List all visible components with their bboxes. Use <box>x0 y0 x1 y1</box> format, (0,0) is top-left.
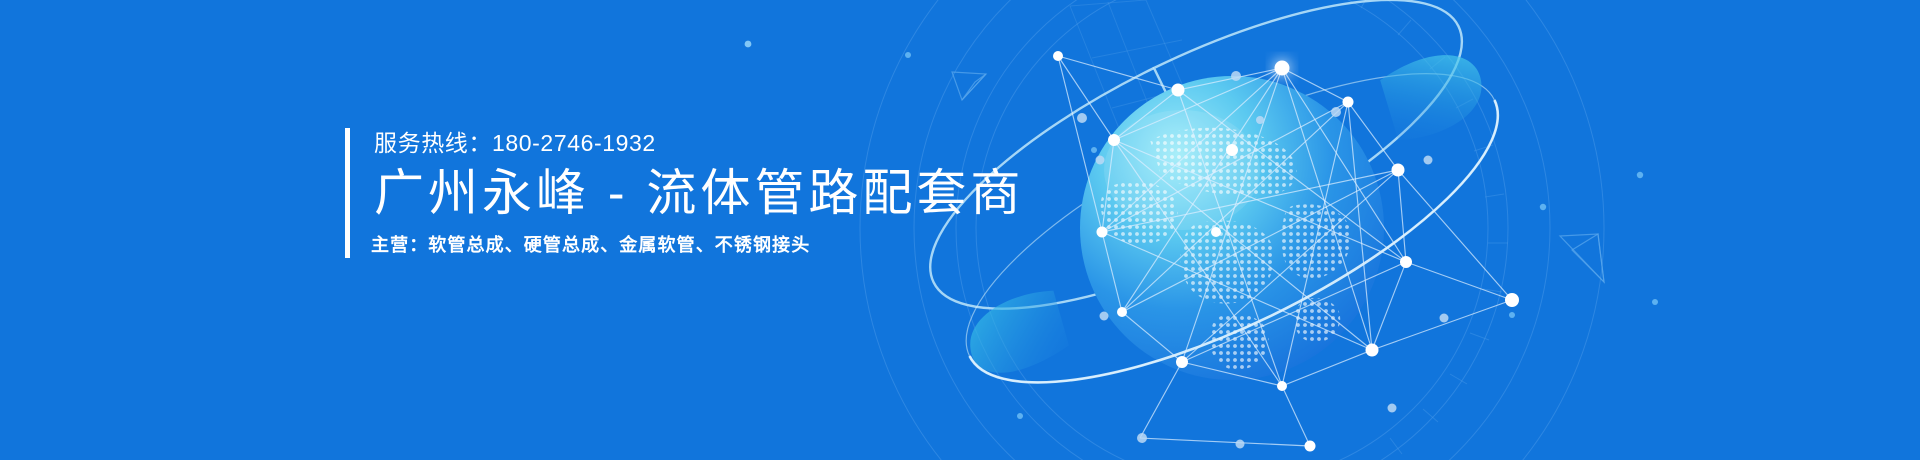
banner-text-block: 服务热线：180-2746-1932 广州永峰 - 流体管路配套商 主营：软管总… <box>345 128 1024 258</box>
business-scope-subtitle: 主营：软管总成、硬管总成、金属软管、不锈钢接头 <box>371 232 1024 258</box>
service-hotline: 服务热线：180-2746-1932 <box>374 128 1024 158</box>
page-title: 广州永峰 - 流体管路配套商 <box>374 162 1024 224</box>
perspective-grid <box>1070 0 1238 156</box>
globe-continents <box>1101 128 1352 370</box>
network-mesh <box>1058 56 1512 446</box>
wire-triangles <box>952 72 1604 282</box>
accent-bar <box>345 128 350 258</box>
orbit-ring-lobes <box>941 38 1509 388</box>
banner-text-lines: 服务热线：180-2746-1932 广州永峰 - 流体管路配套商 主营：软管总… <box>374 128 1024 258</box>
globe-sphere <box>1080 76 1384 380</box>
network-nodes <box>1053 51 1519 452</box>
hero-banner: 服务热线：180-2746-1932 广州永峰 - 流体管路配套商 主营：软管总… <box>0 0 1920 460</box>
orbit-ring-front <box>970 100 1537 442</box>
